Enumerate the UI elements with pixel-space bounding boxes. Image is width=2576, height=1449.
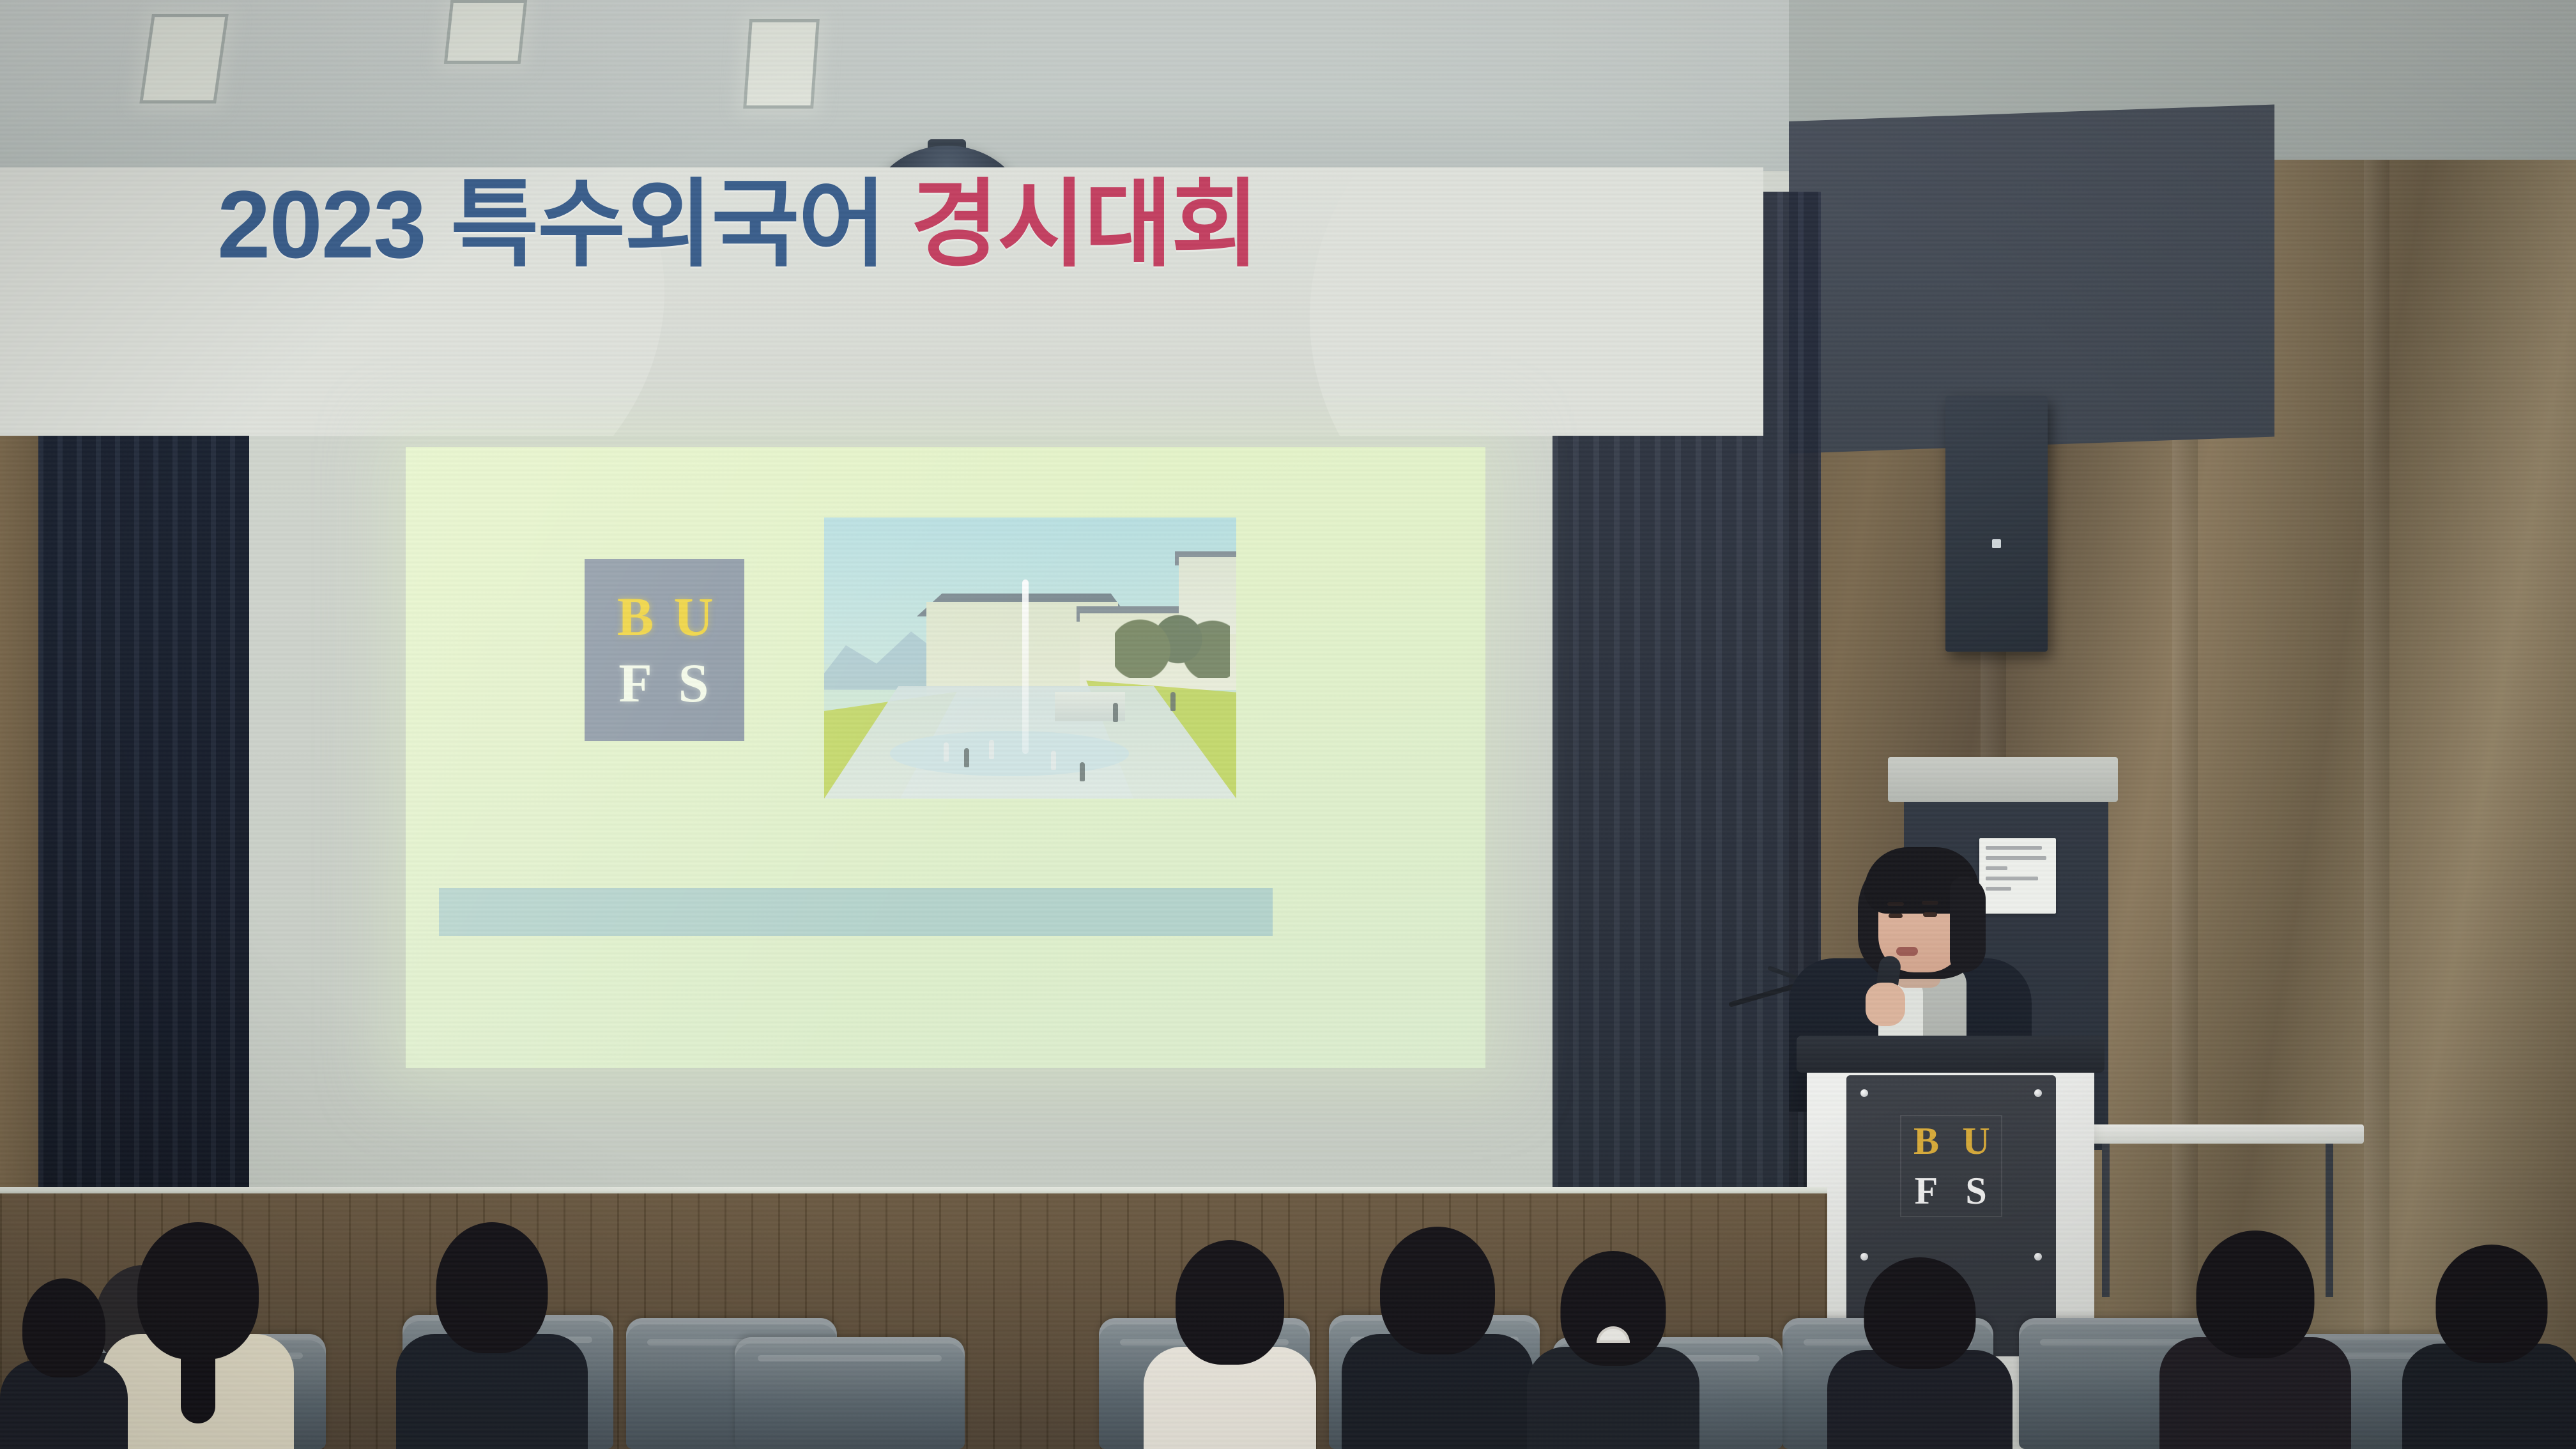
slide-bufs-logo: B U F S xyxy=(585,559,744,741)
audience-head xyxy=(1380,1227,1495,1354)
banner-title-year: 2023 xyxy=(217,171,425,278)
audience-member xyxy=(396,1257,588,1449)
photo-person xyxy=(1113,703,1118,722)
photo-person xyxy=(989,740,994,759)
presenter-brow xyxy=(1887,902,1904,906)
photo-person xyxy=(964,748,969,767)
slide-text-bar xyxy=(439,888,1273,936)
audience-member xyxy=(1144,1270,1316,1449)
presenter-mouth xyxy=(1896,947,1918,956)
slide-logo-letter-f: F xyxy=(618,659,652,708)
slide-logo-letter-s: S xyxy=(678,659,709,708)
ceiling-light-panel xyxy=(743,19,820,109)
ceiling-light-panel xyxy=(444,0,528,64)
photo-fountain-jet xyxy=(1022,579,1029,754)
podium-letter-s: S xyxy=(1965,1175,1986,1207)
audience-head xyxy=(1176,1240,1284,1365)
podium-letter-b: B xyxy=(1913,1125,1939,1158)
equipment-cabinet-frame xyxy=(1888,757,2118,802)
photo-person xyxy=(1170,692,1176,711)
audience-member xyxy=(0,1302,128,1449)
wall-speaker-icon xyxy=(1945,396,2048,652)
screw-icon xyxy=(1860,1089,1868,1097)
audience-head xyxy=(137,1222,259,1360)
audience-head xyxy=(22,1278,105,1377)
photo-fountain-pool xyxy=(890,731,1129,776)
slide-logo-letter-b: B xyxy=(617,592,654,641)
audience-member xyxy=(102,1252,294,1449)
photo-person xyxy=(1051,751,1056,770)
side-table xyxy=(2070,1124,2364,1144)
auditorium-scene: 2023 특수외국어 경시대회 일정|2023.11.27.(월) ~ 12.0… xyxy=(0,0,2576,1449)
audience-member xyxy=(1527,1283,1699,1449)
presenter-eye xyxy=(1923,912,1937,917)
audience-head xyxy=(2436,1245,2548,1363)
ceiling-light-panel xyxy=(139,14,229,103)
podium-letter-f: F xyxy=(1915,1175,1938,1207)
screw-icon xyxy=(2034,1089,2042,1097)
audience-member xyxy=(1342,1257,1533,1449)
banner-title: 2023 특수외국어 경시대회 xyxy=(217,176,1258,272)
audience-head xyxy=(2196,1230,2315,1358)
banner-swoosh-right xyxy=(1310,167,1763,436)
audience-head xyxy=(436,1222,548,1353)
presenter-hand xyxy=(1866,983,1905,1026)
slide-campus-photo xyxy=(824,517,1236,799)
podium-letter-u: U xyxy=(1962,1125,1989,1158)
banner-title-main: 특수외국어 xyxy=(450,171,885,278)
presenter-brow xyxy=(1922,901,1938,905)
event-banner: 2023 특수외국어 경시대회 일정|2023.11.27.(월) ~ 12.0… xyxy=(0,167,1763,436)
wall-panel-seam xyxy=(2364,0,2389,1449)
photo-person xyxy=(1080,762,1085,781)
photo-person xyxy=(944,742,949,762)
slide-logo-letter-u: U xyxy=(673,592,713,641)
audience-member xyxy=(2402,1280,2576,1449)
banner-title-accent: 경시대회 xyxy=(910,171,1258,278)
audience-member xyxy=(2159,1264,2351,1449)
podium-top-surface xyxy=(1797,1036,2104,1073)
podium-bufs-plate: B U F S xyxy=(1900,1115,2002,1217)
projected-slide: B U F S xyxy=(406,447,1485,1068)
photo-trees xyxy=(1115,608,1230,678)
audience-member xyxy=(1827,1289,2012,1449)
presenter-hair xyxy=(1950,877,1986,972)
audience-head xyxy=(1561,1251,1666,1366)
auditorium-seat xyxy=(735,1337,965,1449)
audience-seating xyxy=(0,1252,2576,1449)
audience-head xyxy=(1864,1257,1976,1369)
presenter-eye xyxy=(1889,914,1903,918)
